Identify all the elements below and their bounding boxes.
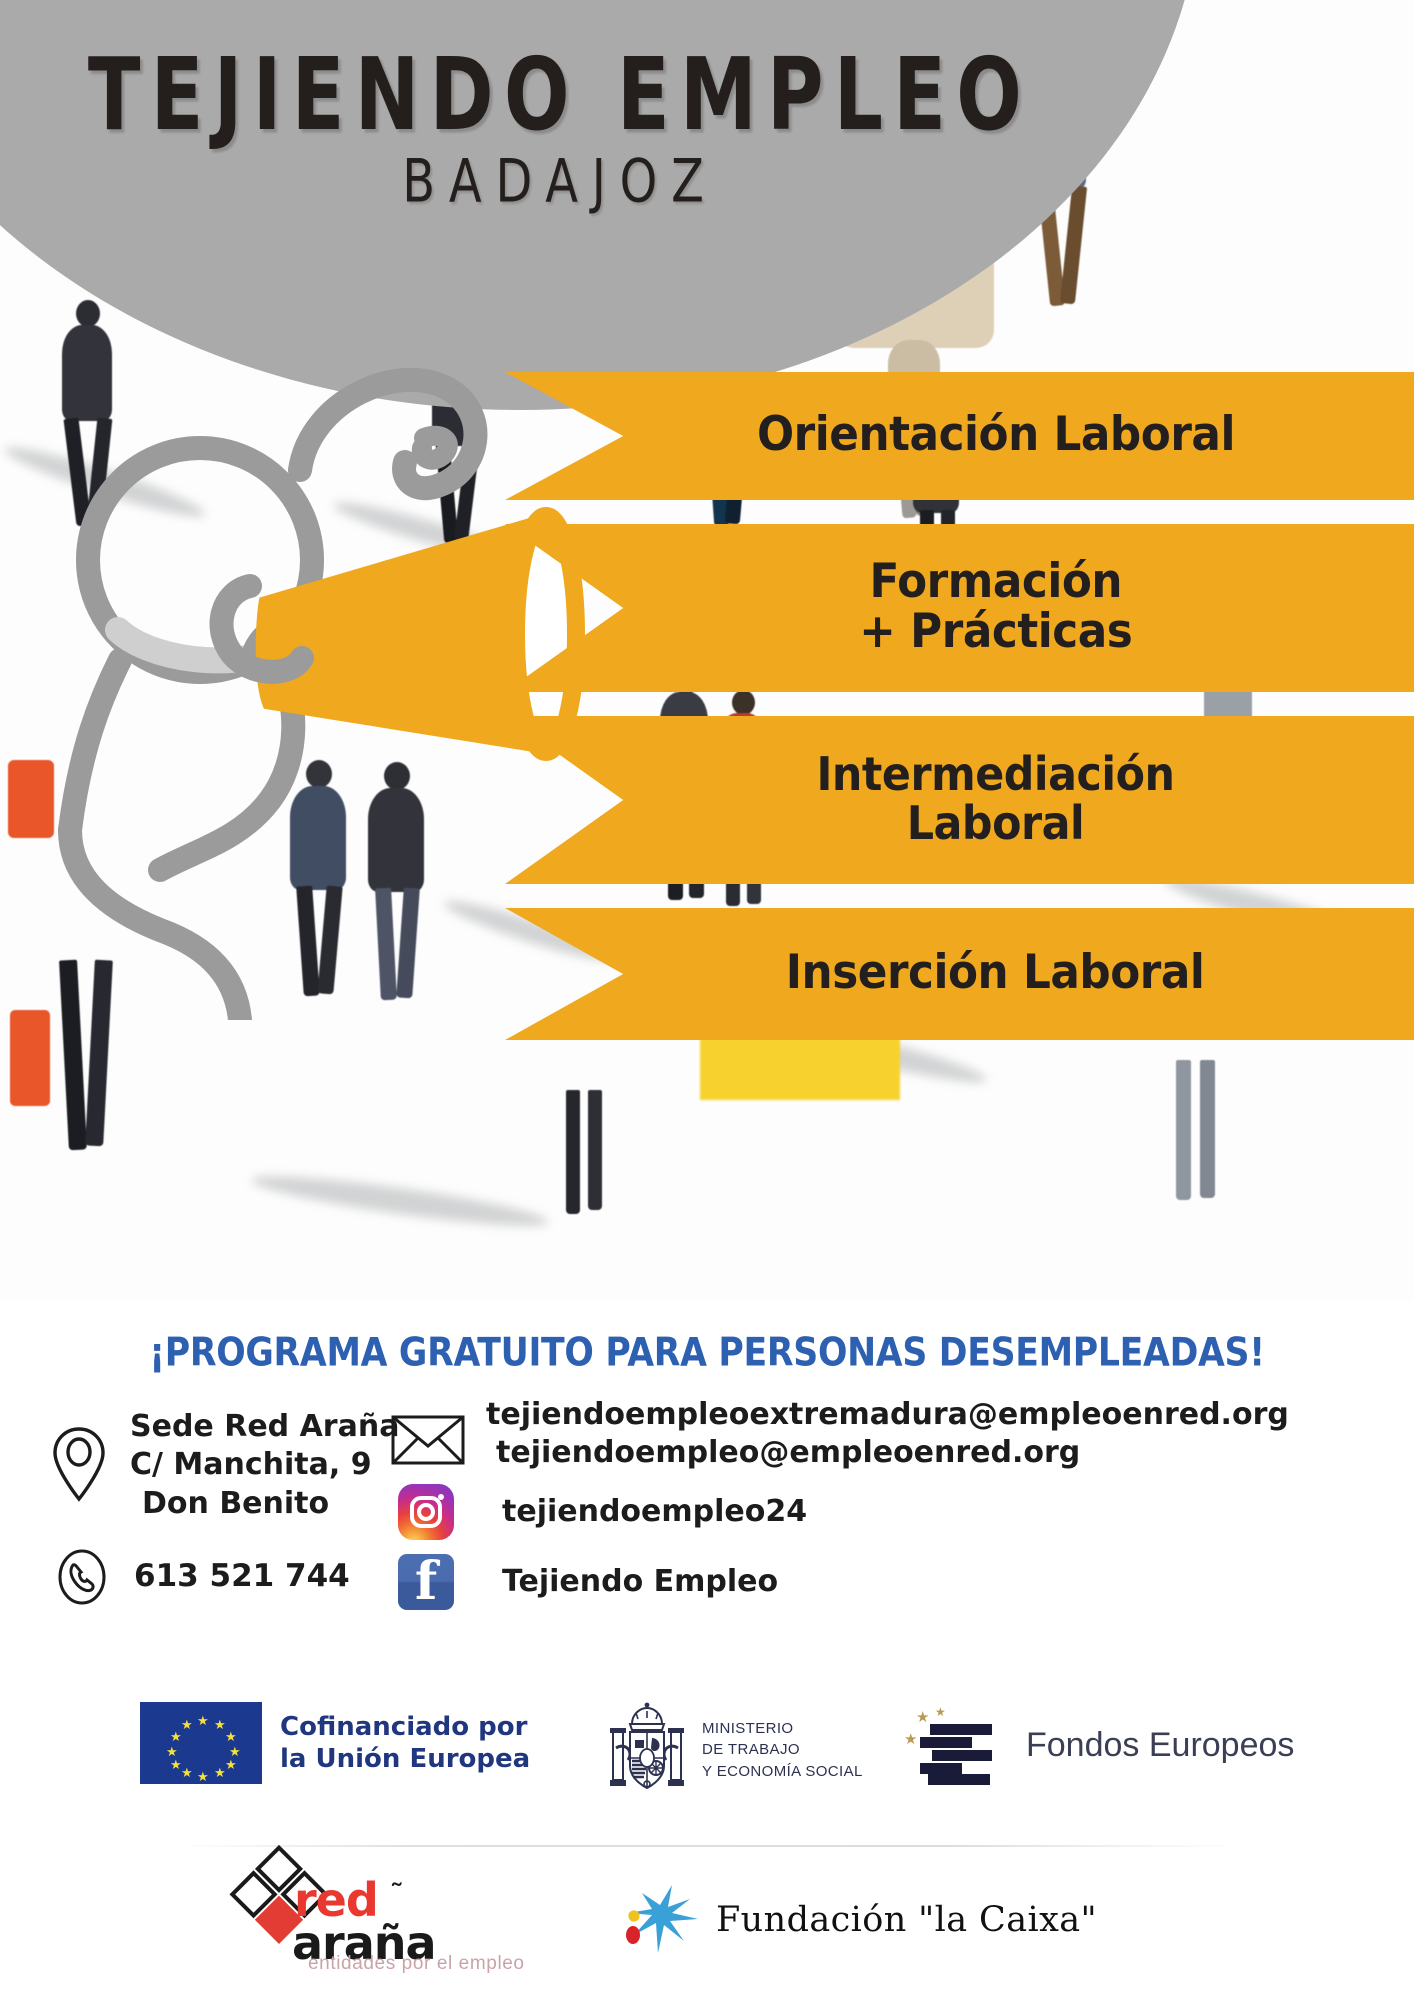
facebook-icon: f [398,1554,454,1610]
service-banner-label: Orientación Laboral [757,410,1235,460]
fondos-europeos-label: Fondos Europeos [1026,1726,1294,1765]
spain-coat-of-arms-icon [604,1700,690,1800]
funder-logo-row: ★ ★ ★ ★ ★ ★ ★ ★ ★ ★ ★ ★ Cofinanciado por… [0,1688,1414,1828]
facebook-handle: Tejiendo Empleo [502,1563,778,1601]
ministry-logo: MINISTERIO DE TRABAJO Y ECONOMÍA SOCIAL [604,1700,863,1800]
eu-cofunding-label: Cofinanciado por la Unión Europea [280,1711,530,1776]
email-address-1: tejiendoempleoextremadura@empleoenred.or… [486,1396,1289,1434]
service-banner-formacion-practicas[interactable]: Formación + Prácticas [505,524,1414,692]
eu-flag-icon: ★ ★ ★ ★ ★ ★ ★ ★ ★ ★ ★ ★ [140,1702,262,1784]
ministry-line1: MINISTERIO [702,1718,863,1739]
red-arana-tagline: entidades por el empleo [308,1953,525,1975]
la-caixa-star-icon [612,1883,704,1957]
contact-facebook-row[interactable]: f Tejiendo Empleo [398,1554,778,1610]
page-title: TEJIENDO EMPLEO [34,46,1087,146]
service-banner-orientacion-laboral[interactable]: Orientación Laboral [505,372,1414,500]
address-line-2: C/ Manchita, 9 [130,1446,399,1484]
eu-label-line2: la Unión Europea [280,1743,530,1776]
photo-pedestrian [1170,1060,1240,1210]
fondos-europeos-icon: ★ ★ ★ [902,1706,1010,1784]
eu-cofunding-logo: ★ ★ ★ ★ ★ ★ ★ ★ ★ ★ ★ ★ Cofinanciado por… [140,1702,530,1784]
ministry-label: MINISTERIO DE TRABAJO Y ECONOMÍA SOCIAL [702,1718,863,1782]
contact-email-lines: tejiendoempleoextremadura@empleoenred.or… [486,1396,1289,1473]
ministry-line3: Y ECONOMÍA SOCIAL [702,1761,863,1782]
fondos-europeos-logo: ★ ★ ★ Fondos Europeos [902,1706,1294,1784]
service-banner-label: Intermediación [816,750,1174,799]
contact-address-lines: Sede Red Araña C/ Manchita, 9 Don Benito [130,1408,399,1523]
ministry-line2: DE TRABAJO [702,1739,863,1760]
title-block: TEJIENDO EMPLEO BADAJOZ [0,46,1120,212]
eu-label-line1: Cofinanciado por [280,1711,530,1744]
instagram-handle: tejiendoempleo24 [502,1493,807,1531]
service-banner-intermediacion-laboral[interactable]: Intermediación Laboral [505,716,1414,884]
poster-root: TEJIENDO EMPLEO BADAJOZ Orientación Labo… [0,0,1414,2000]
red-arana-tilde: ˜ [392,1877,401,1908]
service-banner-list: Orientación Laboral Formación + Práctica… [505,372,1414,1040]
email-address-2: tejiendoempleo@empleoenred.org [496,1434,1289,1472]
service-banner-label: Inserción Laboral [786,948,1205,998]
photo-pedestrian [560,1090,620,1220]
partner-logo-row: red araña ˜ entidades por el empleo Fund… [0,1855,1414,2000]
page-subtitle: BADAJOZ [45,148,1075,217]
service-banner-insercion-laboral[interactable]: Inserción Laboral [505,908,1414,1040]
service-banner-label: Formación [859,557,1132,607]
service-banner-label-line2: + Prácticas [859,607,1132,657]
address-line-1: Sede Red Araña [130,1408,399,1446]
la-caixa-logo: Fundación "la Caixa" [612,1883,1097,1957]
section-divider [180,1845,1240,1847]
photo-shadow [250,1167,551,1234]
free-program-headline: ¡PROGRAMA GRATUITO PARA PERSONAS DESEMPL… [7,1331,1407,1376]
la-caixa-label: Fundación "la Caixa" [716,1900,1097,1940]
contact-instagram-row[interactable]: tejiendoempleo24 [398,1484,807,1540]
instagram-icon [398,1484,454,1540]
phone-number: 613 521 744 [134,1557,350,1597]
phone-icon [54,1548,110,1606]
contact-phone-row[interactable]: 613 521 744 [54,1548,350,1606]
contact-address-row: Sede Red Araña C/ Manchita, 9 Don Benito [50,1404,399,1523]
envelope-icon [390,1412,466,1468]
contact-email-row[interactable]: tejiendoempleoextremadura@empleoenred.or… [390,1396,1289,1473]
contact-section: Sede Red Araña C/ Manchita, 9 Don Benito… [0,1396,1414,1686]
address-line-3: Don Benito [142,1485,399,1523]
location-pin-icon [50,1404,108,1523]
service-banner-label-line2: Laboral [816,799,1174,848]
